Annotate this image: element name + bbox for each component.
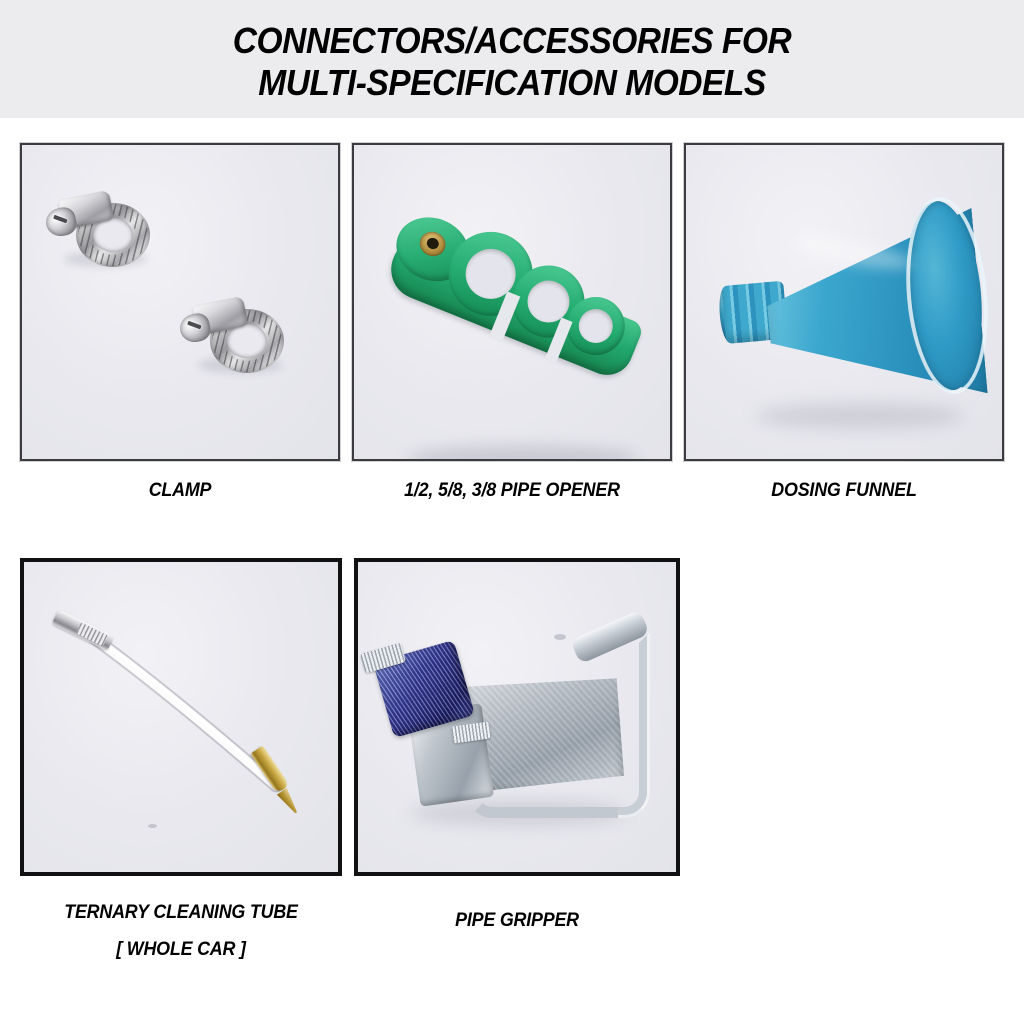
caption-clamp: CLAMP — [30, 478, 331, 503]
hose-clamp-2 — [180, 301, 288, 375]
pipe-gripper — [376, 632, 656, 822]
product-image-pipe-gripper — [354, 558, 680, 876]
pipe-opener-photo — [354, 145, 670, 459]
dosing-funnel-photo — [686, 145, 1002, 459]
page-title: CONNECTORS/ACCESSORIES FOR MULTI-SPECIFI… — [0, 20, 1024, 104]
hose-clamp-1 — [46, 195, 154, 269]
caption-ternary-cleaning-tube: TERNARY CLEANING TUBE — [30, 900, 333, 925]
page-title-line-1: CONNECTORS/ACCESSORIES FOR — [36, 20, 988, 62]
ternary-cleaning-tube — [24, 562, 338, 872]
photo-speck — [148, 824, 157, 828]
product-image-clamp — [20, 143, 340, 461]
dosing-funnel — [712, 200, 988, 422]
product-image-ternary-cleaning-tube — [20, 558, 342, 876]
caption-pipe-gripper: PIPE GRIPPER — [364, 908, 670, 933]
clamp-photo — [22, 145, 338, 459]
cleaning-tube-hose — [24, 562, 338, 872]
product-image-dosing-funnel — [684, 143, 1004, 461]
caption-dosing-funnel: DOSING FUNNEL — [694, 478, 995, 503]
pipe-gripper-photo — [358, 562, 676, 872]
page-title-line-2: MULTI-SPECIFICATION MODELS — [36, 62, 988, 104]
pipe-opener-shadow — [408, 445, 638, 461]
ternary-cleaning-tube-photo — [24, 562, 338, 872]
caption-pipe-opener: 1/2, 5/8, 3/8 PIPE OPENER — [362, 478, 663, 503]
pipe-opener-tool — [363, 193, 662, 430]
caption-ternary-cleaning-tube-line2: [ WHOLE CAR ] — [30, 937, 333, 962]
product-image-pipe-opener — [352, 143, 672, 461]
